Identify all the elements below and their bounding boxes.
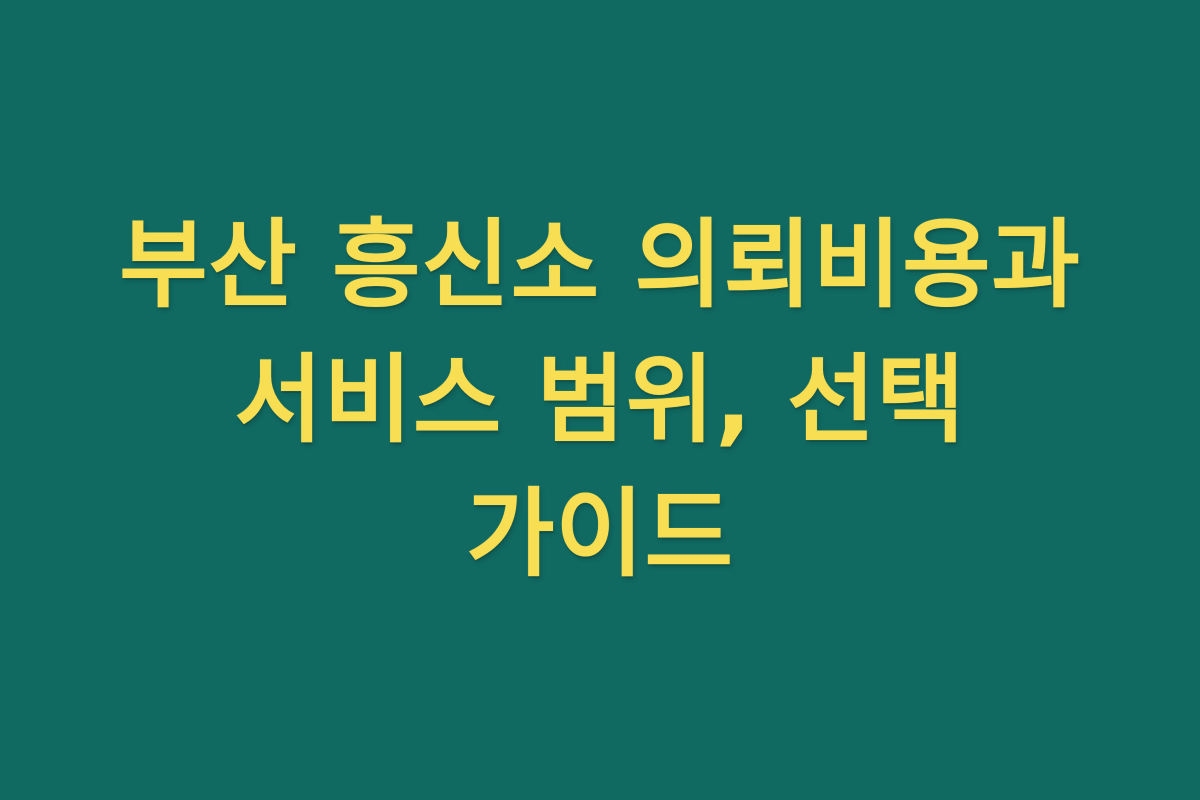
thumbnail-card: 부산 흥신소 의뢰비용과 서비스 범위, 선택 가이드 (0, 0, 1200, 800)
page-title: 부산 흥신소 의뢰비용과 서비스 범위, 선택 가이드 (90, 198, 1110, 601)
title-block: 부산 흥신소 의뢰비용과 서비스 범위, 선택 가이드 (80, 198, 1120, 601)
